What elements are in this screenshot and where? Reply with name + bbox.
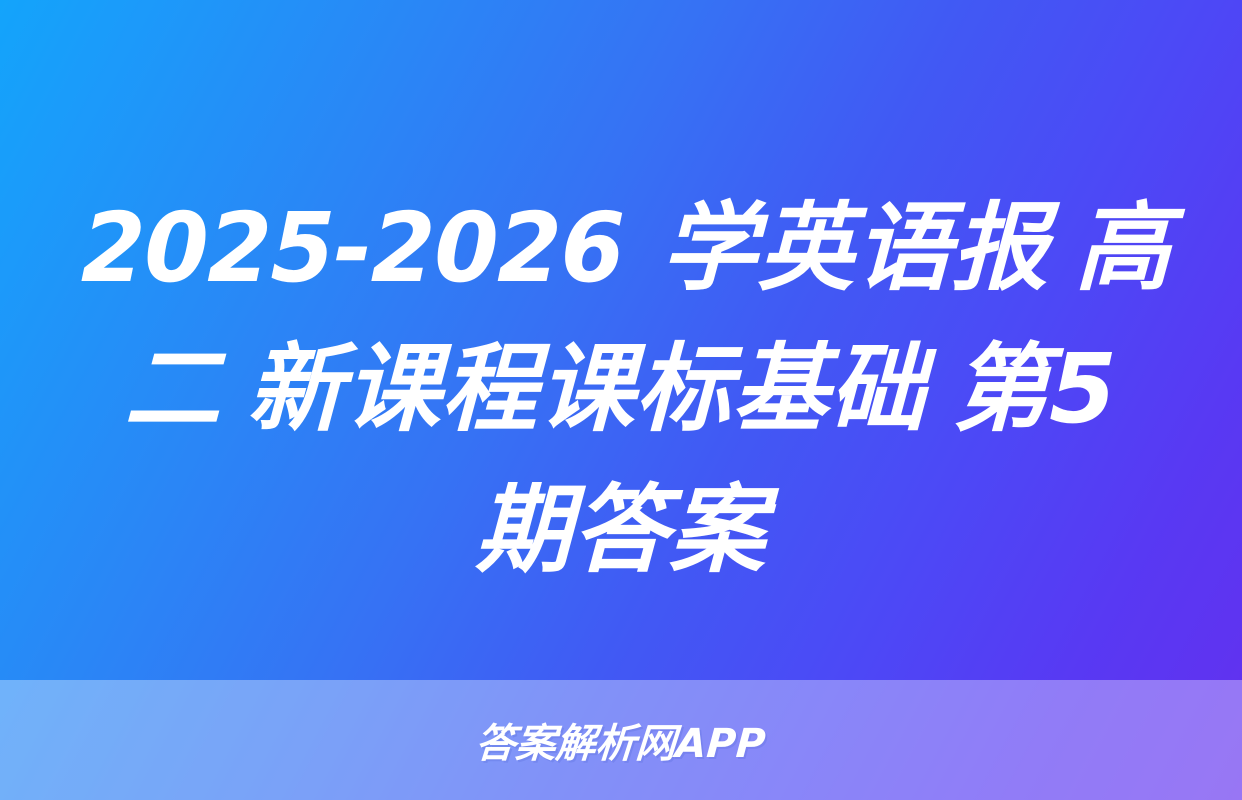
page-title-line-2: 二新课程课标基础第5	[47, 319, 1195, 460]
footer-watermark-band: 答案解析网APP	[0, 680, 1242, 800]
school-year-text: 2025-2026	[80, 178, 625, 318]
grade-text-part-2: 二	[124, 333, 223, 445]
edition-text: 新课程课标基础	[247, 333, 928, 445]
publication-name-text: 学英语报	[660, 192, 1050, 304]
issue-answer-text: 期答案	[475, 474, 768, 586]
issue-text-part-1: 第5	[952, 333, 1119, 445]
page-title-line-1: 2025-2026学英语报高	[47, 178, 1195, 319]
page-title-line-3: 期答案	[47, 460, 1195, 601]
app-watermark-label: 答案解析网APP	[474, 711, 768, 769]
poster-title-block: 2025-2026学英语报高 二新课程课标基础第5 期答案	[0, 178, 1242, 601]
grade-text-part-1: 高	[1074, 192, 1173, 304]
poster-canvas: 2025-2026学英语报高 二新课程课标基础第5 期答案 答案解析网APP	[0, 0, 1242, 800]
